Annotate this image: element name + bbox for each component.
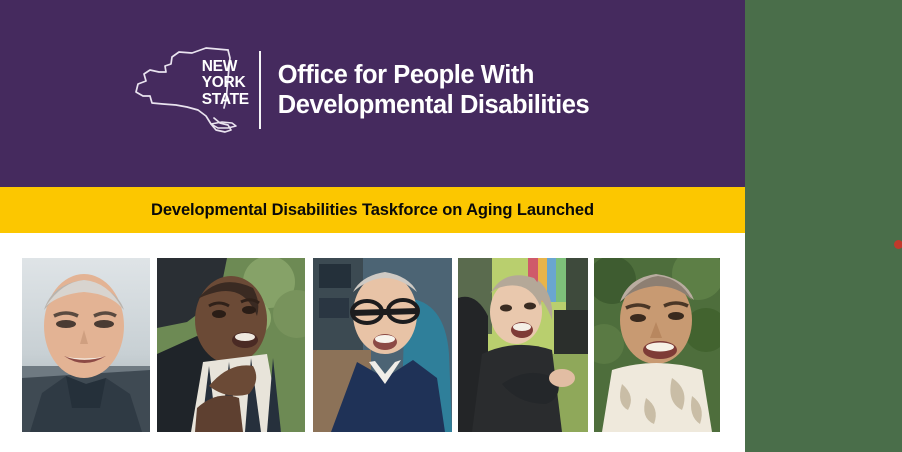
agency-name-line-2: Developmental Disabilities	[278, 90, 589, 120]
agency-name-line-1: Office for People With	[278, 60, 589, 90]
brand-header: NEW YORK STATE Office for People With De…	[0, 0, 745, 187]
headline-title: Developmental Disabilities Taskforce on …	[151, 201, 594, 220]
photo-item: Older man with glasses in navy sweater s…	[313, 258, 452, 432]
photo-item: Woman in dark sweater laughing in a colo…	[458, 258, 588, 432]
newsletter-content-column: NEW YORK STATE Office for People With De…	[0, 0, 745, 452]
new-york-state-wordmark: NEW YORK STATE	[202, 59, 249, 109]
logo-divider	[259, 51, 261, 129]
photo-item: Smiling man in patterned shirt outdoors …	[594, 258, 720, 432]
logo-state-line-1: NEW	[202, 59, 249, 76]
photo-item: Smiling older man outdoors in a dark jac…	[22, 258, 150, 432]
new-york-state-outline-icon: NEW YORK STATE	[132, 44, 250, 136]
opwdd-logo-lockup[interactable]: NEW YORK STATE Office for People With De…	[132, 44, 589, 136]
logo-state-line-2: YORK	[202, 75, 249, 92]
page-root: NEW YORK STATE Office for People With De…	[0, 0, 902, 452]
cursor-dot	[894, 240, 902, 249]
agency-name: Office for People With Developmental Dis…	[278, 60, 589, 120]
photo-item: Older woman in striped shirt seated outd…	[157, 258, 305, 432]
logo-state-line-3: STATE	[202, 92, 249, 109]
photo-strip: Smiling older man outdoors in a dark jac…	[0, 233, 745, 452]
headline-band: Developmental Disabilities Taskforce on …	[0, 187, 745, 233]
